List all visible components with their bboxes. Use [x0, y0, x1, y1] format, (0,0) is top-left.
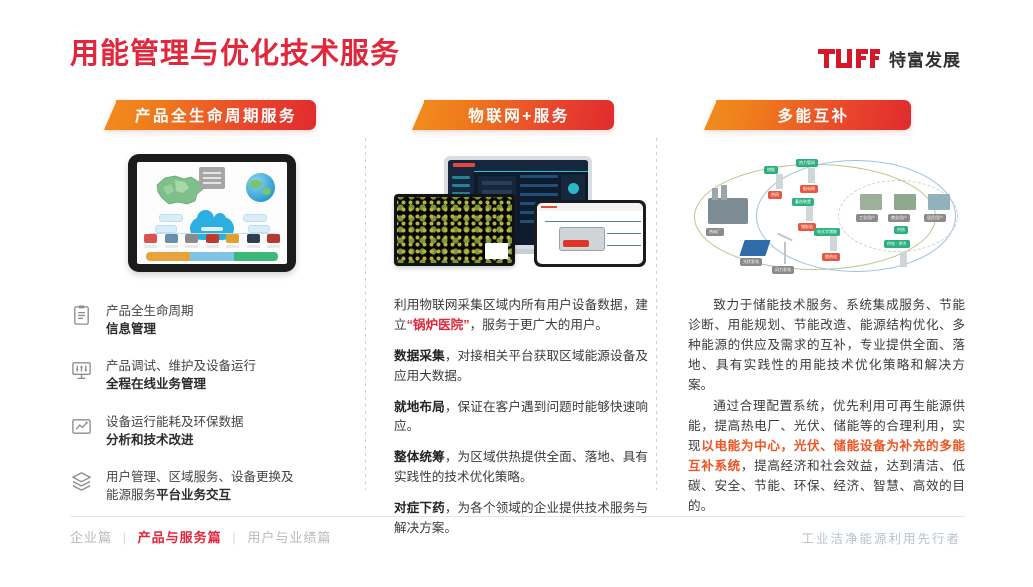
paragraph: 利用物联网采集区域内所有用户设备数据，建立“锅炉医院”，服务于更广大的用户。 — [394, 296, 648, 336]
feature-item: 用户管理、区域服务、设备更换及 能源服务平台业务交互 — [70, 468, 354, 504]
node-label: 风力发电 — [772, 266, 794, 274]
footer-tagline: 工业洁净能源利用先行者 — [801, 528, 961, 547]
footer-rule — [70, 516, 965, 517]
banner-multi-energy: 多能互补 — [716, 100, 911, 130]
paragraph: 致力于储能技术服务、系统集成服务、节能诊断、用能规划、节能改造、能源结构优化、多… — [688, 296, 965, 395]
brand-logo: 特富发展 — [818, 46, 961, 71]
building-icon — [894, 194, 916, 210]
text-after: ，服务于更广大的用户。 — [470, 318, 609, 332]
device-node — [185, 234, 198, 248]
storage-icon — [806, 206, 813, 221]
node-label: 商业用户 — [888, 214, 910, 222]
paragraph: 就地布局，保证在客户遇到问题时能够快速响应。 — [394, 398, 648, 438]
device-node-row — [144, 234, 280, 248]
device-node — [165, 234, 178, 248]
schematic-line — [607, 233, 641, 234]
feature-text: 产品全生命周期 信息管理 — [106, 302, 194, 338]
iot-paragraphs: 利用物联网采集区域内所有用户设备数据，建立“锅炉医院”，服务于更广大的用户。 数… — [394, 296, 648, 539]
tag-pill — [243, 214, 267, 222]
schematic-line — [607, 245, 641, 246]
paragraph-lead: 对症下药 — [394, 501, 445, 515]
multi-energy-paragraphs: 致力于储能技术服务、系统集成服务、节能诊断、用能规划、节能改造、能源结构优化、多… — [688, 296, 965, 517]
column-lifecycle: 产品全生命周期服务 — [70, 100, 370, 505]
tuff-logo-icon — [818, 49, 880, 68]
feature-item: 产品调试、维护及设备运行 全程在线业务管理 — [70, 357, 354, 393]
tag-pill — [159, 214, 183, 222]
feature-line-2: 信息管理 — [106, 322, 156, 336]
node-label: 居民用户 — [924, 214, 946, 222]
storage-icon — [830, 236, 837, 251]
phone-device-graphic — [534, 200, 646, 267]
lifecycle-illustration — [70, 152, 354, 278]
schematic-line — [545, 221, 641, 222]
tablet-map-graphic — [394, 194, 515, 266]
device-node — [206, 234, 219, 248]
feature-line-1: 产品全生命周期 — [106, 304, 194, 318]
feature-line-2-prefix: 能源服务 — [106, 488, 156, 502]
node-label-alt: 热网 — [768, 191, 782, 199]
node-label: 蓄热装置 — [792, 198, 814, 206]
slide-root: 用能管理与优化技术服务 特富发展 产品全生命周期服务 — [0, 0, 1033, 587]
footer-nav-separator: | — [123, 530, 127, 545]
node-label-alt: 配电网 — [800, 185, 818, 193]
paragraph: 对症下药，为各个领域的企业提供技术服务与解决方案。 — [394, 499, 648, 539]
feature-text: 用户管理、区域服务、设备更换及 能源服务平台业务交互 — [106, 468, 294, 504]
node-label: 供热 — [894, 226, 908, 234]
feature-text: 产品调试、维护及设备运行 全程在线业务管理 — [106, 357, 256, 393]
content-columns: 产品全生命周期服务 — [70, 100, 965, 505]
power-plant-icon — [708, 198, 748, 224]
chart-image-icon — [70, 415, 93, 438]
feature-line-1: 用户管理、区域服务、设备更换及 — [106, 470, 294, 484]
process-bar — [146, 252, 278, 261]
multi-energy-illustration: 热电厂 光伏发电 风力发电 储能 热网 热力管网 配电网 蓄热装置 储能站 电化 — [688, 154, 965, 278]
highlight-text: “锅炉医院” — [407, 318, 470, 332]
feature-line-2: 分析和技术改进 — [106, 433, 194, 447]
paragraph-lead: 就地布局 — [394, 400, 445, 414]
tag-pill — [155, 225, 177, 233]
tablet-device-graphic — [128, 154, 296, 272]
column-iot: 物联网+服务 — [370, 100, 666, 505]
node-label: 光伏发电 — [740, 258, 762, 266]
tag-pill — [248, 225, 270, 233]
boiler-schematic-icon — [559, 227, 605, 251]
footer-nav: 企业篇 | 产品与服务篇 | 用户与业绩篇 — [70, 527, 331, 546]
building-icon — [860, 194, 882, 210]
node-label: 电化学储能 — [814, 228, 840, 236]
node-label-alt: 换热站 — [822, 253, 840, 261]
feature-line-2: 平台业务交互 — [156, 488, 231, 502]
storage-icon — [776, 174, 783, 189]
footer-nav-item-enterprise[interactable]: 企业篇 — [70, 530, 112, 545]
footer-nav-item-customer-performance[interactable]: 用户与业绩篇 — [247, 530, 331, 545]
page-title: 用能管理与优化技术服务 — [70, 40, 400, 69]
node-label: 工业用户 — [856, 214, 878, 222]
column-multi-energy: 多能互补 热电厂 光伏发电 风力发电 储能 热网 热力管网 — [666, 100, 965, 505]
monitor-settings-icon — [70, 359, 93, 382]
paragraph-lead: 整体统筹 — [394, 450, 445, 464]
feature-item: 设备运行能耗及环保数据 分析和技术改进 — [70, 413, 354, 449]
feature-line-2: 全程在线业务管理 — [106, 377, 206, 391]
phone-topbar — [537, 203, 643, 211]
paragraph-lead: 数据采集 — [394, 349, 445, 363]
wind-turbine-icon — [784, 242, 786, 264]
footer-nav-item-product-service[interactable]: 产品与服务篇 — [138, 530, 222, 545]
globe-icon — [246, 173, 275, 202]
paragraph: 整体统筹，为区域供热提供全面、落地、具有实践性的技术优化策略。 — [394, 448, 648, 488]
map-legend — [485, 243, 508, 259]
node-label: 供电 · 供冷 — [884, 240, 910, 248]
layers-icon — [70, 470, 93, 493]
paragraph: 通过合理配置系统，优先利用可再生能源供能，提高热电厂、光伏、储能等的合理利用，实… — [688, 397, 965, 516]
feature-item: 产品全生命周期 信息管理 — [70, 302, 354, 338]
banner-iot: 物联网+服务 — [424, 100, 614, 130]
server-icon — [199, 167, 225, 189]
device-node — [144, 234, 157, 248]
clipboard-icon — [70, 304, 93, 327]
paragraph: 数据采集，对接相关平台获取区域能源设备及应用大数据。 — [394, 347, 648, 387]
building-icon — [928, 194, 950, 210]
feature-list: 产品全生命周期 信息管理 — [70, 302, 354, 504]
device-node — [267, 234, 280, 248]
device-node — [247, 234, 260, 248]
banner-lifecycle: 产品全生命周期服务 — [116, 100, 316, 130]
feature-text: 设备运行能耗及环保数据 分析和技术改进 — [106, 413, 244, 449]
solar-panel-icon — [739, 240, 770, 256]
node-label: 热电厂 — [706, 228, 724, 236]
footer-nav-separator: | — [232, 530, 236, 545]
feature-line-1: 设备运行能耗及环保数据 — [106, 415, 244, 429]
node-label: 储能 — [764, 166, 778, 174]
storage-icon — [900, 252, 907, 267]
logo-text: 特富发展 — [889, 46, 961, 71]
node-label: 热力管网 — [796, 159, 818, 167]
feature-line-1: 产品调试、维护及设备运行 — [106, 359, 256, 373]
iot-illustration — [394, 152, 648, 276]
device-node — [226, 234, 239, 248]
storage-icon — [808, 168, 815, 183]
